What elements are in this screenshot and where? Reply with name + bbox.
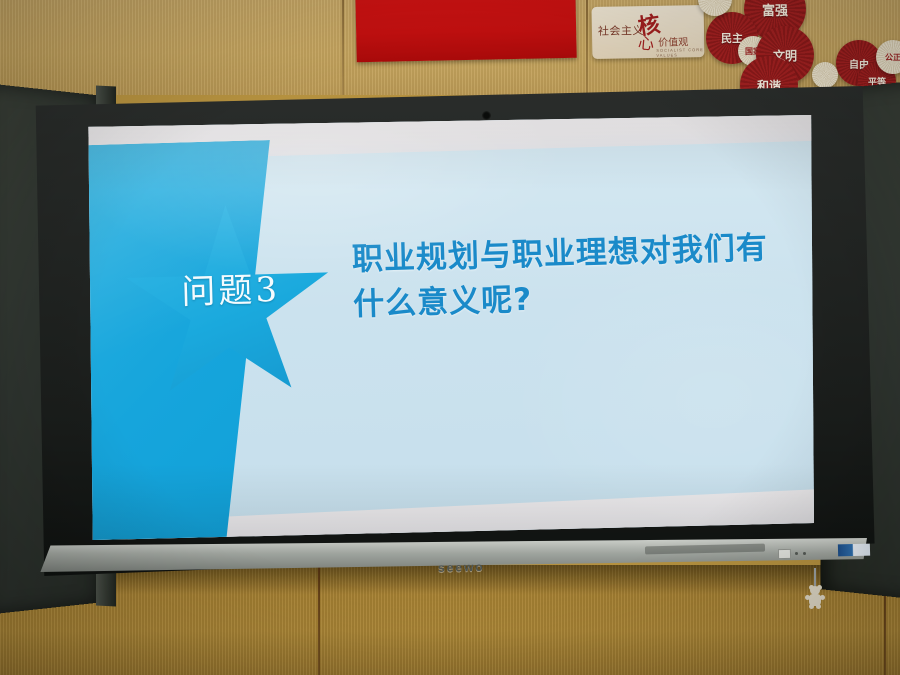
wall-seam — [342, 0, 344, 95]
display-screen[interactable]: 问题3 职业规划与职业理想对我们有 什么意义呢? — [84, 115, 814, 540]
bear-keychain — [805, 586, 825, 610]
question-badge-label: 问题3 — [130, 260, 331, 315]
energy-label-sticker — [838, 544, 870, 557]
keyring-chain — [814, 568, 816, 588]
display-power-button[interactable] — [778, 549, 791, 559]
camera-icon — [482, 111, 491, 120]
classroom-photo-scene: 社会主义 核 心 价值观 SOCIALIST CORE VALUES 富强 民主… — [0, 0, 900, 675]
fan-label: 公正 — [885, 52, 900, 63]
wall-seam — [318, 565, 320, 675]
wall-seam — [586, 0, 588, 95]
display-brand-logo: seewo — [438, 559, 514, 579]
bear-leg-right — [816, 604, 821, 609]
red-banner-board — [355, 0, 576, 62]
fan-label: 富强 — [762, 0, 788, 19]
socialist-core-values-plaque: 社会主义 核 心 价值观 SOCIALIST CORE VALUES — [592, 5, 705, 59]
plaque-subtitle: SOCIALIST CORE VALUES — [656, 47, 704, 58]
presentation-slide: 问题3 职业规划与职业理想对我们有 什么意义呢? — [84, 115, 814, 540]
slide-title: 职业规划与职业理想对我们有 什么意义呢? — [351, 225, 814, 328]
paper-fan-decoration — [812, 62, 838, 88]
bear-leg-left — [809, 604, 814, 609]
interactive-flat-panel-display[interactable]: 问题3 职业规划与职业理想对我们有 什么意义呢? — [22, 86, 878, 578]
display-indicator-dot — [803, 552, 806, 555]
display-indicator-dot — [795, 552, 798, 555]
plaque-accent-character-2: 心 — [637, 29, 655, 54]
